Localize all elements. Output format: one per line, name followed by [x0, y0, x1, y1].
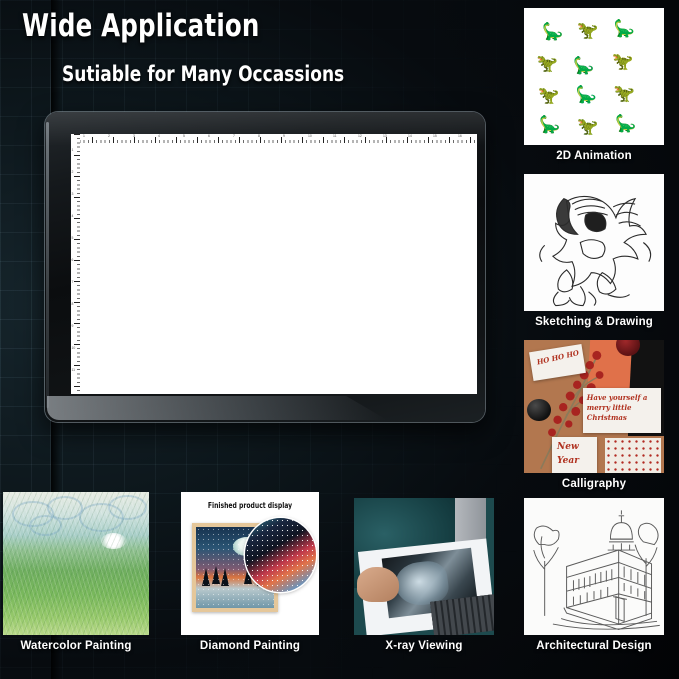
promo-image-root: Wide Application Sutiable for Many Occas… — [0, 0, 679, 679]
ruler-tick-label: 9 — [283, 134, 285, 138]
keyboard-icon — [430, 594, 494, 635]
ruler-tick-label: 7 — [72, 280, 74, 284]
ruler-tick-label: 6 — [72, 258, 74, 262]
dinosaur-figure: 🦖 — [577, 22, 598, 39]
wheatfield-painting — [3, 492, 149, 635]
caption-watercolor-painting: Watercolor Painting — [0, 640, 161, 652]
finished-product-display-label: Finished product display — [188, 501, 312, 510]
ruler-tick-label: 9 — [72, 324, 74, 328]
thumb-2d-animation: 🦕🦖🦕🦖🦕🦖🦖🦕🦖🦕🦖🦕 — [524, 8, 664, 145]
ruler-tick-label: 2 — [72, 170, 74, 174]
dinosaur-figure: 🦕 — [576, 86, 597, 103]
ruler-horizontal-major — [71, 134, 477, 143]
caption-xray-viewing: X-ray Viewing — [342, 640, 506, 652]
led-light-pad: 12345678910111213141516 1234567891011 — [45, 112, 485, 422]
dinosaur-figure: 🦕 — [542, 23, 563, 40]
page-title: Wide Application — [22, 8, 260, 44]
ruler-tick-label: 1 — [83, 134, 85, 138]
dinosaur-figure: 🦖 — [537, 55, 558, 72]
ruler-tick-label: 7 — [233, 134, 235, 138]
dinosaur-figure: 🦕 — [539, 116, 560, 133]
floral-fabric — [605, 438, 661, 473]
building-sketch — [524, 498, 664, 635]
merry-christmas-text: Have yourself a merry little Christmas — [583, 388, 661, 428]
caption-sketching-drawing: Sketching & Drawing — [512, 316, 676, 328]
ruler-tick-label: 8 — [258, 134, 260, 138]
ruler-tick-label: 2 — [108, 134, 110, 138]
light-pad-bottom-highlight — [47, 396, 387, 420]
ruler-tick-label: 11 — [333, 134, 337, 138]
thumb-watercolor-painting — [3, 492, 149, 635]
ruler-tick-label: 11 — [72, 368, 76, 372]
new-year-text: New Year — [552, 437, 597, 468]
ruler-tick-label: 12 — [358, 134, 362, 138]
ruler-tick-label: 8 — [72, 302, 74, 306]
ruler-tick-label: 3 — [72, 192, 74, 196]
building-sketch-icon — [524, 498, 664, 635]
caption-calligraphy: Calligraphy — [512, 478, 676, 490]
dinosaur-figure: 🦕 — [573, 57, 594, 74]
dinosaur-illustrations: 🦕🦖🦕🦖🦕🦖🦖🦕🦖🦕🦖🦕 — [524, 8, 664, 145]
dinosaur-figure: 🦖 — [577, 118, 598, 135]
ruler-tick-label: 16 — [458, 134, 462, 138]
thumb-sketching-drawing — [524, 174, 664, 311]
xray-viewing-scene — [354, 498, 494, 635]
ruler-tick-label: 13 — [383, 134, 387, 138]
dinosaur-figure: 🦖 — [538, 87, 559, 104]
ruler-tick-label: 14 — [408, 134, 412, 138]
page-subtitle: Sutiable for Many Occassions — [62, 62, 344, 86]
ruler-tick-label: 10 — [72, 346, 76, 350]
panel-architectural-design[interactable]: Architectural Design — [524, 498, 664, 658]
panel-diamond-painting[interactable]: Finished product display — [181, 492, 319, 657]
panel-calligraphy[interactable]: HO HO HO Have yourself a merry little Ch… — [524, 340, 664, 495]
thumb-diamond-painting: Finished product display — [181, 492, 319, 635]
caption-architectural-design: Architectural Design — [512, 640, 676, 652]
ruler-tick-label: 1 — [72, 148, 74, 152]
thumb-architectural-design — [524, 498, 664, 635]
panel-xray-viewing[interactable]: X-ray Viewing — [354, 498, 494, 658]
ruler-tick-label: 3 — [133, 134, 135, 138]
hand — [357, 567, 399, 603]
ruler-tick-label: 5 — [72, 236, 74, 240]
dinosaur-figure: 🦖 — [612, 53, 633, 70]
thumb-xray-viewing — [354, 498, 494, 635]
ruler-tick-label: 5 — [183, 134, 185, 138]
caption-2d-animation: 2D Animation — [512, 150, 676, 162]
magnifier-detail-circle — [245, 518, 317, 592]
dinosaur-figure: 🦖 — [614, 85, 635, 102]
dinosaur-figure: 🦕 — [615, 115, 636, 132]
caption-diamond-painting: Diamond Painting — [169, 640, 331, 652]
panel-2d-animation[interactable]: 🦕🦖🦕🦖🦕🦖🦖🦕🦖🦕🦖🦕 2D Animation — [524, 8, 664, 168]
brushstroke-texture — [3, 492, 149, 635]
ruler-tick-label: 6 — [208, 134, 210, 138]
ruler-tick-label: 10 — [308, 134, 312, 138]
light-pad-surface: 12345678910111213141516 1234567891011 — [71, 134, 477, 394]
panel-sketching-drawing[interactable]: Sketching & Drawing — [524, 174, 664, 334]
dinosaur-figure: 🦕 — [614, 20, 635, 37]
card-new-year: New Year — [552, 437, 597, 473]
ruler-tick-label: 15 — [433, 134, 437, 138]
diamond-painting-display: Finished product display — [181, 492, 319, 635]
ruler-tick-label: 4 — [158, 134, 160, 138]
dragon-sketch-illustration — [524, 174, 664, 311]
panel-watercolor-painting[interactable]: Watercolor Painting — [3, 492, 149, 657]
thumb-calligraphy: HO HO HO Have yourself a merry little Ch… — [524, 340, 664, 473]
light-pad-left-highlight — [46, 122, 49, 408]
ruler-tick-label: 4 — [72, 214, 74, 218]
calligraphy-scene: HO HO HO Have yourself a merry little Ch… — [524, 340, 664, 473]
dragon-sketch-icon — [524, 174, 664, 311]
card-merry-christmas: Have yourself a merry little Christmas — [583, 388, 661, 433]
